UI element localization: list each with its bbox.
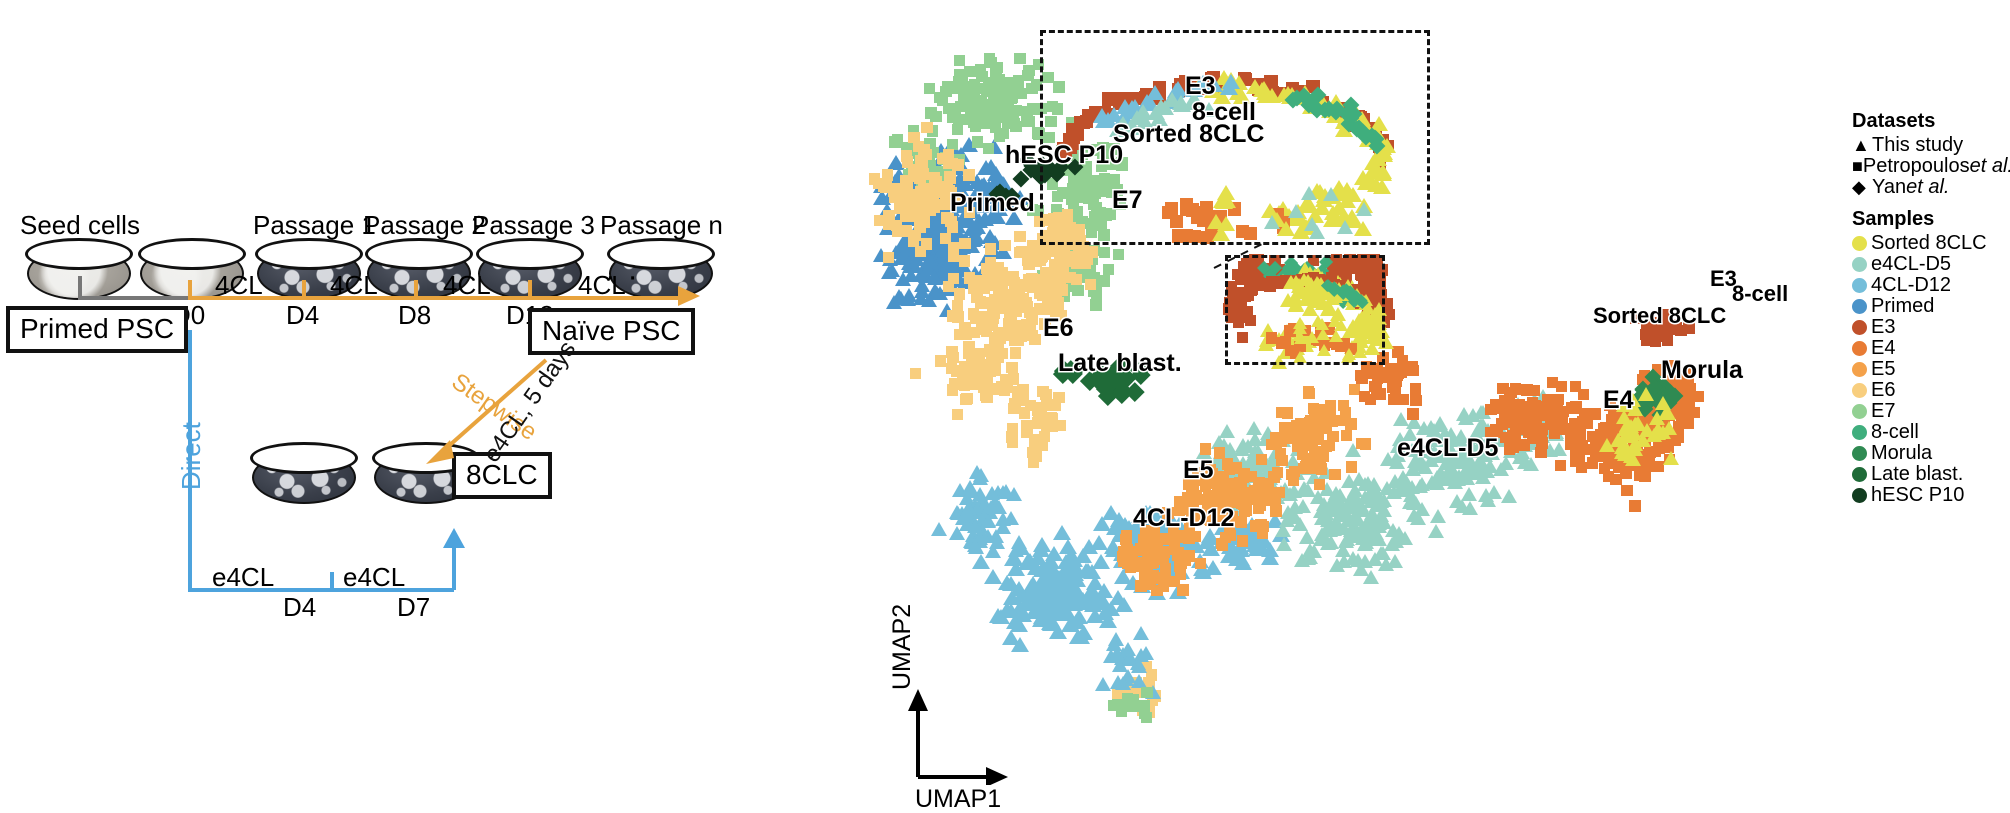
legend-sample-e6: E6 — [1852, 380, 2010, 401]
legend-sample-label: hESC P10 — [1871, 484, 1964, 507]
scatter-point — [1396, 366, 1407, 377]
dish-caption-passage-n: Passage n — [600, 212, 723, 238]
medium-label-4cl-4: 4CL — [578, 272, 626, 298]
scatter-point — [1159, 546, 1170, 557]
umap-label-late-blast: Late blast. — [1058, 349, 1182, 378]
primed-psc-box: Primed PSC — [6, 306, 188, 353]
scatter-point — [1142, 566, 1153, 577]
scatter-point — [883, 219, 894, 230]
scatter-point — [1341, 494, 1357, 508]
scatter-point — [1513, 399, 1524, 410]
scatter-point — [1128, 701, 1139, 712]
scatter-point — [1095, 677, 1111, 691]
scatter-point — [1160, 563, 1171, 574]
scatter-point — [1116, 706, 1127, 717]
umap-label-sorted-8clc-small: Sorted 8CLC — [1593, 303, 1726, 329]
color-swatch-icon — [1852, 278, 1867, 293]
scatter-point — [1371, 532, 1387, 546]
legend-sample-e4cl-d5: e4CL-D5 — [1852, 254, 2010, 275]
scatter-point — [1545, 400, 1556, 411]
legend-dataset-label-italic: et al. — [1906, 176, 1949, 199]
scatter-point — [1565, 438, 1576, 449]
scatter-point — [1172, 532, 1183, 543]
scatter-point — [1430, 509, 1446, 523]
scatter-point — [1050, 399, 1061, 410]
scatter-point — [1002, 630, 1020, 645]
timeline-4cl-arrowhead — [678, 284, 704, 308]
scatter-point — [1360, 476, 1376, 490]
scatter-point — [1237, 535, 1248, 546]
scatter-point — [1314, 479, 1325, 490]
scatter-point — [1261, 550, 1279, 565]
legend-spacer — [1852, 198, 2010, 208]
scatter-point — [1641, 335, 1652, 346]
dish-lid — [250, 442, 358, 474]
scatter-point — [994, 75, 1005, 86]
legend-dataset-label: Petropoulos — [1863, 155, 1970, 178]
scatter-point — [1600, 422, 1611, 433]
scatter-point — [1115, 676, 1131, 690]
legend-dataset-petropoulos: ■ Petropoulos et al. — [1852, 156, 2010, 177]
scatter-point — [1113, 249, 1124, 260]
scatter-point — [960, 394, 971, 405]
inset-label-e3: E3 — [1185, 72, 1216, 101]
scatter-point — [1286, 427, 1297, 438]
color-swatch-icon — [1852, 383, 1867, 398]
scatter-point — [1023, 65, 1034, 76]
scatter-point — [1378, 557, 1394, 571]
scatter-point — [931, 522, 947, 536]
scatter-point — [919, 217, 930, 228]
scatter-point — [1026, 313, 1037, 324]
scatter-point — [1450, 472, 1466, 486]
legend-sample-label: Primed — [1871, 295, 1934, 318]
legend-sample-label: Sorted 8CLC — [1871, 232, 1987, 255]
scatter-point — [1388, 394, 1399, 405]
scatter-point — [1547, 377, 1558, 388]
umap-label-e4: E4 — [1603, 386, 1634, 415]
scatter-point — [970, 275, 981, 286]
scatter-point — [1270, 436, 1281, 447]
legend-dataset-label: Yan — [1872, 176, 1906, 199]
legend-sample-label: 8-cell — [1871, 421, 1919, 444]
scatter-point — [1085, 279, 1096, 290]
scatter-point — [1465, 408, 1481, 422]
umap-label-e6: E6 — [1043, 314, 1074, 343]
scatter-point — [959, 504, 975, 518]
scatter-point — [962, 362, 973, 373]
day-label-direct-d4: D4 — [283, 594, 316, 620]
legend-sample-hesc-p10: hESC P10 — [1852, 485, 2010, 506]
scatter-point — [1072, 285, 1083, 296]
legend-sample-4cl-d12: 4CL-D12 — [1852, 275, 2010, 296]
legend-sample-label: 4CL-D12 — [1871, 274, 1951, 297]
scatter-point — [1318, 451, 1329, 462]
scatter-point — [952, 159, 963, 170]
scatter-point — [1032, 417, 1043, 428]
scatter-point — [1527, 416, 1538, 427]
scatter-point — [921, 122, 932, 133]
scatter-point — [1682, 411, 1693, 422]
legend-dataset-label-italic: et al. — [1970, 155, 2010, 178]
scatter-point — [1275, 523, 1291, 537]
scatter-point — [962, 480, 978, 494]
color-swatch-icon — [1852, 236, 1867, 251]
scatter-point — [1266, 491, 1277, 502]
scatter-point — [985, 320, 996, 331]
tick-d0 — [188, 280, 192, 300]
scatter-point — [1053, 525, 1071, 540]
legend-dataset-label: This study — [1872, 134, 1963, 157]
scatter-point — [884, 263, 900, 277]
scatter-point — [1103, 264, 1114, 275]
scatter-point — [1358, 519, 1374, 533]
dish-lid — [25, 238, 133, 270]
legend-sample-e7: E7 — [1852, 401, 2010, 422]
scatter-point — [1237, 487, 1248, 498]
scatter-point — [996, 302, 1007, 313]
scatter-point — [909, 170, 920, 181]
tick-d8 — [414, 280, 418, 300]
scatter-point — [940, 233, 951, 244]
umap-label-e7: E7 — [1112, 186, 1143, 215]
scatter-point — [1141, 687, 1152, 698]
scatter-point — [1326, 416, 1337, 427]
scatter-point — [1138, 700, 1149, 711]
scatter-point — [1570, 456, 1581, 467]
scatter-point — [1011, 535, 1027, 549]
legend-sample-label: Late blast. — [1871, 463, 1963, 486]
scatter-point — [952, 124, 963, 135]
legend-sample-e5: E5 — [1852, 359, 2010, 380]
scatter-point — [1046, 412, 1057, 423]
scatter-point — [1492, 402, 1503, 413]
scatter-point — [1314, 527, 1330, 541]
scatter-point — [1406, 508, 1422, 522]
scatter-point — [1503, 399, 1514, 410]
scatter-point — [1345, 551, 1361, 565]
scatter-point — [999, 240, 1010, 251]
day-label-d8: D8 — [398, 302, 431, 328]
scatter-point — [1053, 297, 1064, 308]
scatter-point — [869, 173, 880, 184]
scatter-point — [977, 359, 988, 370]
legend-sample-label: E4 — [1871, 337, 1895, 360]
scatter-point — [917, 159, 928, 170]
scatter-point — [1288, 474, 1299, 485]
umap-scatter-panel: hESC P10 Primed E7 E6 Late blast. E5 4CL… — [830, 0, 1840, 812]
umap-axis-label-y: UMAP2 — [890, 604, 915, 690]
legend-sample-primed: Primed — [1852, 296, 2010, 317]
scatter-point — [1019, 407, 1030, 418]
scatter-point — [1067, 253, 1078, 264]
scatter-point — [1275, 448, 1286, 459]
seed-connector-tick — [78, 276, 82, 298]
tick-direct-d4 — [330, 572, 334, 590]
scatter-point — [1195, 558, 1206, 569]
scatter-point — [1026, 83, 1037, 94]
day-label-d4: D4 — [286, 302, 319, 328]
legend-sample-label: E5 — [1871, 358, 1895, 381]
scatter-point — [1071, 274, 1082, 285]
scatter-point — [1549, 428, 1560, 439]
umap-label-e4cl-d5: e4CL-D5 — [1397, 434, 1498, 463]
scatter-point — [981, 86, 992, 97]
direct-route-arrowhead — [442, 528, 466, 550]
scatter-point — [947, 352, 958, 363]
scatter-point — [902, 156, 913, 167]
medium-label-4cl-2: 4CL — [330, 272, 378, 298]
scatter-point — [1011, 306, 1022, 317]
scatter-point — [892, 134, 903, 145]
scatter-point — [1578, 444, 1589, 455]
scatter-point — [1345, 418, 1356, 429]
scatter-point — [1067, 614, 1085, 629]
scatter-point — [1365, 394, 1376, 405]
scatter-point — [948, 251, 959, 262]
scatter-point — [1031, 450, 1042, 461]
scatter-point — [975, 64, 986, 75]
scatter-point — [1523, 457, 1539, 471]
scatter-point — [1599, 463, 1610, 474]
triangle-marker-icon: ▲ — [1852, 135, 1872, 156]
scatter-point — [1247, 432, 1263, 446]
scatter-point — [937, 95, 948, 106]
scatter-point — [1036, 568, 1054, 583]
scatter-point — [1272, 467, 1283, 478]
dish-caption-seed-cells: Seed cells — [20, 212, 140, 238]
scatter-point — [1410, 383, 1421, 394]
scatter-point — [1257, 521, 1268, 532]
scatter-point — [1090, 299, 1101, 310]
legend-sample-late-blast: Late blast. — [1852, 464, 2010, 485]
petri-dish-direct-d4 — [250, 442, 358, 504]
scatter-point — [1009, 335, 1020, 346]
legend-sample-8-cell: 8-cell — [1852, 422, 2010, 443]
scatter-point — [956, 73, 967, 84]
scatter-point — [985, 243, 996, 254]
scatter-point — [1662, 334, 1673, 345]
legend-dataset-yan: ◆ Yan et al. — [1852, 177, 2010, 198]
color-swatch-icon — [1852, 467, 1867, 482]
scatter-point — [1014, 247, 1025, 258]
scatter-point — [1228, 551, 1246, 566]
legend-sample-label: E3 — [1871, 316, 1895, 339]
scatter-point — [984, 486, 1000, 500]
scatter-point — [1407, 408, 1418, 419]
scatter-point — [1292, 517, 1308, 531]
scatter-point — [1142, 538, 1153, 549]
umap-axis-label-x: UMAP1 — [915, 787, 1001, 812]
scatter-point — [998, 484, 1014, 498]
scatter-point — [1629, 500, 1640, 511]
scatter-point — [1008, 373, 1019, 384]
scatter-point — [960, 329, 971, 340]
scatter-point — [1008, 403, 1019, 414]
scatter-point — [1577, 416, 1588, 427]
dish-caption-passage-1: Passage 1 — [253, 212, 376, 238]
scatter-point — [1410, 395, 1421, 406]
scatter-point — [913, 291, 929, 305]
scatter-point — [901, 185, 912, 196]
scatter-point — [944, 171, 955, 182]
direct-route-label: Direct — [176, 422, 207, 490]
scatter-point — [1303, 386, 1314, 397]
scatter-point — [1282, 407, 1293, 418]
scatter-point — [1529, 385, 1540, 396]
scatter-point — [991, 332, 1002, 343]
scatter-point — [954, 55, 965, 66]
inset-connector-line — [1210, 238, 1280, 274]
legend-sample-sorted-8clc: Sorted 8CLC — [1852, 233, 2010, 254]
scatter-point — [943, 149, 954, 160]
scatter-point — [999, 385, 1010, 396]
dish-lid — [255, 238, 363, 270]
color-swatch-icon — [1852, 362, 1867, 377]
scatter-point — [1010, 121, 1021, 132]
scatter-point — [1535, 447, 1546, 458]
scatter-point — [1454, 499, 1470, 513]
legend-datasets-title: Datasets — [1852, 110, 2010, 133]
scatter-point — [1655, 425, 1671, 439]
scatter-point — [963, 169, 974, 180]
scatter-point — [1663, 451, 1679, 465]
color-swatch-icon — [1852, 257, 1867, 272]
scatter-point — [1428, 524, 1444, 538]
scatter-point — [1397, 355, 1408, 366]
scatter-point — [1510, 430, 1521, 441]
dish-lid — [138, 238, 246, 270]
scatter-point — [1557, 413, 1568, 424]
legend-sample-label: E7 — [1871, 400, 1895, 423]
scatter-point — [1302, 543, 1318, 557]
scatter-point — [1138, 646, 1154, 660]
diamond-marker-icon: ◆ — [1852, 177, 1872, 198]
legend-sample-label: E6 — [1871, 379, 1895, 402]
scatter-point — [1614, 440, 1630, 454]
scatter-point — [1340, 407, 1351, 418]
umap-label-4cl-d12: 4CL-D12 — [1133, 504, 1234, 533]
umap-label-e5: E5 — [1183, 456, 1214, 485]
square-marker-icon: ■ — [1852, 156, 1863, 177]
scatter-point — [926, 269, 942, 283]
scatter-point — [952, 311, 963, 322]
scatter-point — [1256, 454, 1267, 465]
scatter-point — [1527, 404, 1538, 415]
scatter-point — [921, 149, 932, 160]
scatter-point — [1141, 712, 1152, 723]
scatter-point — [1356, 438, 1367, 449]
scatter-point — [954, 288, 965, 299]
dish-caption-passage-2: Passage 2 — [363, 212, 486, 238]
scatter-point — [1006, 362, 1017, 373]
tick-d12 — [528, 280, 532, 300]
legend-sample-e4: E4 — [1852, 338, 2010, 359]
scatter-point — [959, 255, 970, 266]
scatter-point — [1305, 439, 1316, 450]
medium-label-e4cl-2: e4CL — [343, 564, 405, 590]
scatter-point — [909, 230, 920, 241]
scatter-point — [1546, 410, 1557, 421]
scatter-point — [900, 209, 911, 220]
scatter-point — [1599, 438, 1615, 452]
scatter-point — [1083, 564, 1101, 579]
umap-label-hesc-p10: hESC P10 — [1005, 141, 1123, 170]
scatter-point — [949, 526, 965, 540]
scatter-point — [1555, 460, 1566, 471]
scatter-point — [1095, 583, 1113, 598]
dish-lid — [476, 238, 584, 270]
scatter-point — [1530, 433, 1541, 444]
scatter-point — [1060, 577, 1078, 592]
scatter-point — [1076, 595, 1094, 610]
scatter-point — [1080, 258, 1091, 269]
scatter-point — [1424, 475, 1440, 489]
scatter-point — [883, 252, 894, 263]
scatter-point — [1128, 561, 1139, 572]
medium-label-4cl-1: 4CL — [215, 272, 263, 298]
scatter-point — [1106, 637, 1122, 651]
scatter-point — [1367, 368, 1378, 379]
scatter-point — [972, 136, 983, 147]
scatter-point — [1308, 403, 1319, 414]
scatter-point — [1643, 453, 1654, 464]
scatter-point — [925, 107, 936, 118]
scatter-point — [1300, 427, 1311, 438]
legend-samples-title: Samples — [1852, 208, 2010, 231]
scatter-point — [1016, 322, 1027, 333]
scatter-point — [1183, 550, 1194, 561]
color-swatch-icon — [1852, 488, 1867, 503]
scatter-point — [1025, 275, 1036, 286]
dish-caption-passage-3: Passage 3 — [472, 212, 595, 238]
medium-label-4cl-3: 4CL — [443, 272, 491, 298]
color-swatch-icon — [1852, 320, 1867, 335]
scatter-point — [994, 108, 1005, 119]
scatter-point — [995, 520, 1011, 534]
scatter-point — [967, 538, 983, 552]
scatter-point — [1619, 418, 1635, 432]
scatter-point — [1036, 252, 1047, 263]
scatter-point — [982, 263, 993, 274]
legend-dataset-this-study: ▲ This study — [1852, 135, 2010, 156]
color-swatch-icon — [1852, 341, 1867, 356]
scatter-point — [1200, 443, 1211, 454]
scatter-point — [1183, 533, 1194, 544]
scatter-point — [952, 409, 963, 420]
scatter-point — [983, 143, 994, 154]
color-swatch-icon — [1852, 446, 1867, 461]
scatter-point — [1039, 584, 1057, 599]
scatter-point — [1478, 488, 1494, 502]
scatter-point — [980, 389, 991, 400]
legend-sample-e3: E3 — [1852, 317, 2010, 338]
scatter-point — [1040, 284, 1051, 295]
color-swatch-icon — [1852, 425, 1867, 440]
scatter-point — [963, 348, 974, 359]
legend-sample-label: Morula — [1871, 442, 1932, 465]
scatter-point — [1230, 462, 1241, 473]
scatter-point — [984, 53, 995, 64]
scatter-point — [1024, 116, 1035, 127]
scatter-point — [994, 269, 1005, 280]
scatter-point — [1346, 461, 1357, 472]
dish-lid — [365, 238, 473, 270]
scatter-point — [1343, 523, 1359, 537]
scatter-point — [962, 377, 973, 388]
scatter-point — [1432, 416, 1448, 430]
scatter-point — [1385, 370, 1396, 381]
